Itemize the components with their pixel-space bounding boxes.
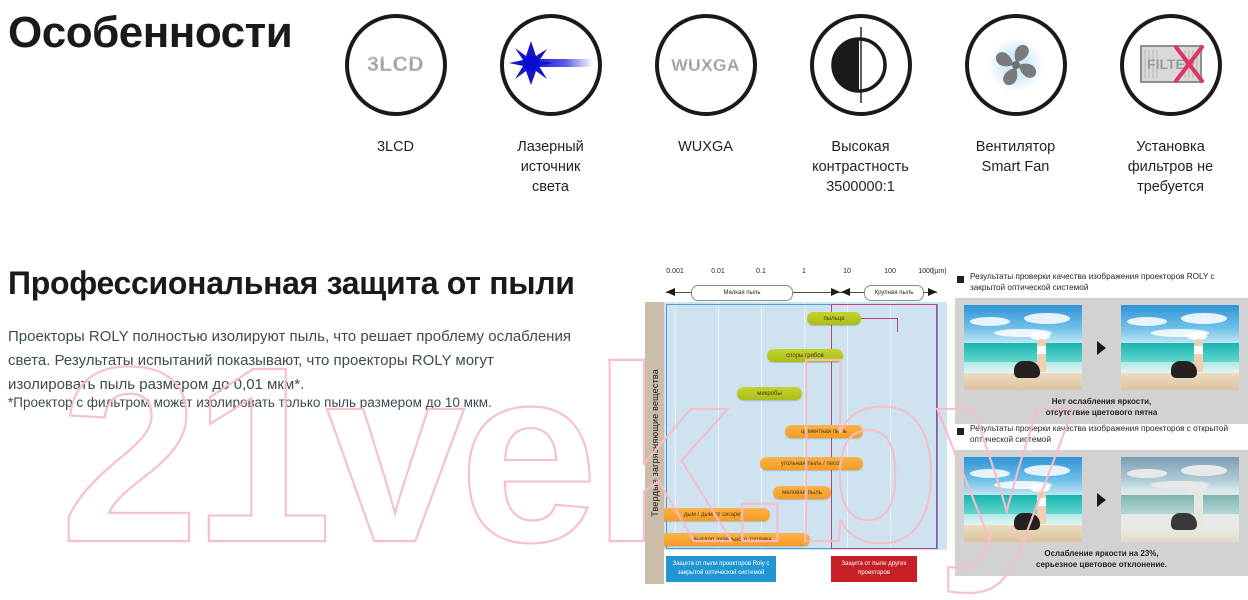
cloud-shape: [1181, 465, 1227, 476]
pill-diesel-exhaust: выхлоп дизельного топлива: [655, 533, 810, 546]
cloud-shape: [1127, 317, 1167, 326]
feature-label-3lcd: 3LCD: [377, 137, 414, 157]
laser-burst-glyph: [507, 35, 595, 95]
pollen-connector-vert: [897, 318, 898, 332]
band-arrow-left-fine: [666, 288, 675, 296]
chart-x-axis: 0.001 0.01 0.1 1 10 100 1000 (µm): [645, 268, 947, 284]
panel-caption: Нет ослабления яркости, отсутствие цвето…: [964, 390, 1239, 418]
feature-item-wuxga: WUXGA WUXGA: [628, 14, 783, 197]
photo-after-faded: [1121, 457, 1239, 542]
panel-image-body: Нет ослабления яркости, отсутствие цвето…: [955, 298, 1248, 424]
x-tick-0: 0.001: [666, 268, 684, 275]
photo-after: [1121, 305, 1239, 390]
chart-y-axis-text: Твердые загрязняющие вещества: [650, 369, 660, 517]
pill-smoke: дым / дым от сигарет: [657, 508, 770, 521]
band-arrow-right-coarse: [928, 288, 937, 296]
pill-microbes: микробы: [737, 387, 802, 400]
chart-band-row: Мелкая пыль Крупная пыль: [645, 285, 947, 300]
photo-sea: [964, 343, 1082, 362]
panel-heading-text: Результаты проверки качества изображения…: [970, 271, 1248, 293]
page-title: Особенности: [8, 8, 292, 58]
photo-dog: [1171, 513, 1197, 530]
photo-woman-top: [1037, 346, 1046, 354]
wuxga-icon-label: WUXGA: [671, 55, 740, 76]
chart-y-axis-label: Твердые загрязняющие вещества: [645, 302, 664, 584]
photo-dog: [1014, 513, 1040, 530]
legend-roly: Защита от пыли проекторов Roly с закрыто…: [666, 556, 776, 582]
no-filter-icon: FILTER: [1120, 14, 1222, 116]
contrast-circle-icon: [810, 14, 912, 116]
features-section: Особенности 3LCD 3LCD: [0, 0, 1248, 232]
panel-heading-row: Результаты проверки качества изображения…: [955, 420, 1248, 450]
cloud-shape: [1127, 469, 1167, 478]
photo-before: [964, 457, 1082, 542]
feature-item-3lcd: 3LCD 3LCD: [318, 14, 473, 197]
pill-coal-sand: угольная пыль / песок: [760, 457, 863, 470]
band-arrow-right-fine: [831, 288, 840, 296]
feature-label-laser: Лазерный источник света: [517, 137, 584, 197]
photo-dog: [1014, 361, 1040, 378]
fan-glyph: [979, 28, 1053, 102]
square-bullet-icon: [957, 428, 964, 435]
cloud-shape: [970, 469, 1010, 478]
cloud-shape: [1024, 313, 1070, 324]
arrow-right-icon: [1097, 493, 1106, 507]
x-tick-5: 100: [884, 268, 896, 275]
feature-item-fan: Вентилятор Smart Fan: [938, 14, 1093, 197]
dust-size-chart: 0.001 0.01 0.1 1 10 100 1000 (µm) Мелкая…: [645, 268, 947, 584]
panel-open-optics: Результаты проверки качества изображения…: [955, 420, 1248, 576]
pill-chalk-dust: меловая пыль: [773, 486, 831, 499]
feature-label-no-filter: Установка фильтров не требуется: [1128, 137, 1214, 197]
band-label-fine: Мелкая пыль: [691, 285, 793, 301]
photo-woman-top: [1194, 346, 1203, 354]
legend-other: Защита от пыли других проекторов: [831, 556, 917, 582]
arrow-right-icon: [1097, 341, 1106, 355]
cloud-shape: [1181, 313, 1227, 324]
feature-label-fan: Вентилятор Smart Fan: [976, 137, 1055, 177]
contrast-circle-glyph: [825, 27, 897, 103]
panel-roly-closed-optics: Результаты проверки качества изображения…: [955, 268, 1248, 424]
laser-burst-icon: [500, 14, 602, 116]
photo-woman-top: [1194, 498, 1203, 506]
x-tick-1: 0.01: [711, 268, 725, 275]
band-arrow-left-coarse: [841, 288, 850, 296]
feature-item-no-filter: FILTER Установка фильтров не требуется: [1093, 14, 1248, 197]
feature-item-contrast: Высокая контрастность 3500000:1: [783, 14, 938, 197]
cloud-shape: [970, 317, 1010, 326]
panel-caption: Ослабление яркости на 23%, серьезное цве…: [964, 542, 1239, 570]
image-comparison-pair: [964, 457, 1239, 542]
pill-cement-dust: цементная пыль: [785, 425, 863, 438]
image-comparison-pair: [964, 305, 1239, 390]
x-tick-2: 0.1: [756, 268, 766, 275]
panel-heading-row: Результаты проверки качества изображения…: [955, 268, 1248, 298]
chart-plot-area: пыльца споры грибов микробы цементная пы…: [645, 302, 947, 550]
no-filter-glyph: FILTER: [1134, 37, 1208, 93]
photo-woman-top: [1037, 498, 1046, 506]
fan-icon: [965, 14, 1067, 116]
photo-dog: [1171, 361, 1197, 378]
pill-fungal-spores: споры грибов: [767, 349, 843, 362]
dust-section-note: *Проектор с фильтром может изолировать т…: [8, 393, 608, 413]
wuxga-icon: WUXGA: [655, 14, 757, 116]
feature-item-laser: Лазерный источник света: [473, 14, 628, 197]
panel-image-body: Ослабление яркости на 23%, серьезное цве…: [955, 450, 1248, 576]
dust-section-body: Проекторы ROLY полностью изолируют пыль,…: [8, 325, 583, 397]
x-tick-4: 10: [843, 268, 851, 275]
x-axis-unit: (µm): [932, 268, 947, 275]
three-lcd-icon: 3LCD: [345, 14, 447, 116]
photo-before: [964, 305, 1082, 390]
pill-pollen: пыльца: [807, 312, 861, 325]
photo-sea: [1121, 343, 1239, 362]
square-bullet-icon: [957, 276, 964, 283]
band-label-coarse: Крупная пыль: [864, 285, 924, 301]
feature-label-wuxga: WUXGA: [678, 137, 733, 157]
photo-sea: [964, 495, 1082, 514]
pollen-connector: [858, 318, 898, 319]
x-tick-3: 1: [802, 268, 806, 275]
feature-list: 3LCD 3LCD Лазерный источник света: [318, 14, 1248, 197]
photo-sea: [1121, 495, 1239, 514]
feature-label-contrast: Высокая контрастность 3500000:1: [812, 137, 909, 197]
cloud-shape: [1024, 465, 1070, 476]
three-lcd-icon-label: 3LCD: [367, 53, 424, 77]
panel-heading-text: Результаты проверки качества изображения…: [970, 423, 1248, 445]
dust-section-title: Профессиональная защита от пыли: [8, 265, 575, 302]
